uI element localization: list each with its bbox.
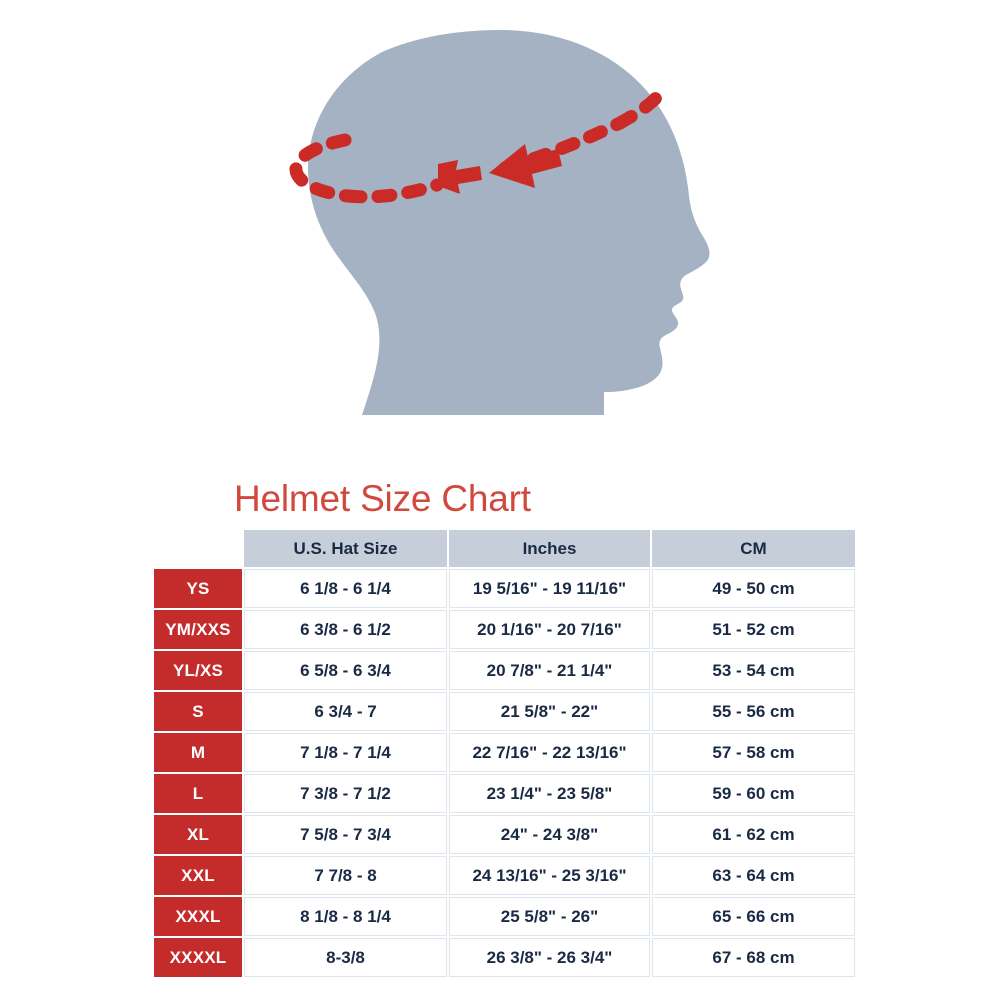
inches-value: 20 1/16" - 20 7/16" xyxy=(449,610,650,649)
table-row: XXXL 8 1/8 - 8 1/4 25 5/8" - 26" 65 - 66… xyxy=(154,897,855,936)
size-label: L xyxy=(154,774,242,813)
cm-value: 61 - 62 cm xyxy=(652,815,855,854)
inches-value: 19 5/16" - 19 11/16" xyxy=(449,569,650,608)
size-label: YS xyxy=(154,569,242,608)
inches-value: 22 7/16" - 22 13/16" xyxy=(449,733,650,772)
size-label: XXXXL xyxy=(154,938,242,977)
inches-value: 23 1/4" - 23 5/8" xyxy=(449,774,650,813)
table-row: YL/XS 6 5/8 - 6 3/4 20 7/8" - 21 1/4" 53… xyxy=(154,651,855,690)
head-silhouette-shape xyxy=(308,30,709,415)
table-row: M 7 1/8 - 7 1/4 22 7/16" - 22 13/16" 57 … xyxy=(154,733,855,772)
inches-value: 24" - 24 3/8" xyxy=(449,815,650,854)
hat-size-value: 6 3/8 - 6 1/2 xyxy=(244,610,447,649)
size-label: XXXL xyxy=(154,897,242,936)
hat-size-value: 6 5/8 - 6 3/4 xyxy=(244,651,447,690)
helmet-size-table: U.S. Hat Size Inches CM YS 6 1/8 - 6 1/4… xyxy=(152,528,857,979)
size-label: XXL xyxy=(154,856,242,895)
hat-size-value: 8-3/8 xyxy=(244,938,447,977)
column-header-inches: Inches xyxy=(449,530,650,567)
inches-value: 21 5/8" - 22" xyxy=(449,692,650,731)
table-row: XL 7 5/8 - 7 3/4 24" - 24 3/8" 61 - 62 c… xyxy=(154,815,855,854)
cm-value: 53 - 54 cm xyxy=(652,651,855,690)
page-title: Helmet Size Chart xyxy=(234,478,531,520)
table-corner-blank xyxy=(154,530,242,567)
size-label: M xyxy=(154,733,242,772)
inches-value: 20 7/8" - 21 1/4" xyxy=(449,651,650,690)
hat-size-value: 7 3/8 - 7 1/2 xyxy=(244,774,447,813)
column-header-cm: CM xyxy=(652,530,855,567)
cm-value: 65 - 66 cm xyxy=(652,897,855,936)
hat-size-value: 8 1/8 - 8 1/4 xyxy=(244,897,447,936)
table-row: S 6 3/4 - 7 21 5/8" - 22" 55 - 56 cm xyxy=(154,692,855,731)
table-row: YM/XXS 6 3/8 - 6 1/2 20 1/16" - 20 7/16"… xyxy=(154,610,855,649)
cm-value: 59 - 60 cm xyxy=(652,774,855,813)
inches-value: 25 5/8" - 26" xyxy=(449,897,650,936)
table-row: XXL 7 7/8 - 8 24 13/16" - 25 3/16" 63 - … xyxy=(154,856,855,895)
hat-size-value: 7 5/8 - 7 3/4 xyxy=(244,815,447,854)
table-row: YS 6 1/8 - 6 1/4 19 5/16" - 19 11/16" 49… xyxy=(154,569,855,608)
size-label: YM/XXS xyxy=(154,610,242,649)
inches-value: 24 13/16" - 25 3/16" xyxy=(449,856,650,895)
cm-value: 67 - 68 cm xyxy=(652,938,855,977)
cm-value: 49 - 50 cm xyxy=(652,569,855,608)
size-label: XL xyxy=(154,815,242,854)
cm-value: 55 - 56 cm xyxy=(652,692,855,731)
cm-value: 63 - 64 cm xyxy=(652,856,855,895)
table-header-row: U.S. Hat Size Inches CM xyxy=(154,530,855,567)
hat-size-value: 6 1/8 - 6 1/4 xyxy=(244,569,447,608)
table-row: XXXXL 8-3/8 26 3/8" - 26 3/4" 67 - 68 cm xyxy=(154,938,855,977)
size-label: S xyxy=(154,692,242,731)
size-label: YL/XS xyxy=(154,651,242,690)
hat-size-value: 6 3/4 - 7 xyxy=(244,692,447,731)
hat-size-value: 7 1/8 - 7 1/4 xyxy=(244,733,447,772)
helmet-size-chart-section: Helmet Size Chart U.S. Hat Size Inches C… xyxy=(0,460,1000,1000)
table-row: L 7 3/8 - 7 1/2 23 1/4" - 23 5/8" 59 - 6… xyxy=(154,774,855,813)
inches-value: 26 3/8" - 26 3/4" xyxy=(449,938,650,977)
cm-value: 51 - 52 cm xyxy=(652,610,855,649)
cm-value: 57 - 58 cm xyxy=(652,733,855,772)
column-header-us-hat-size: U.S. Hat Size xyxy=(244,530,447,567)
hat-size-value: 7 7/8 - 8 xyxy=(244,856,447,895)
head-measurement-illustration xyxy=(0,0,1000,460)
